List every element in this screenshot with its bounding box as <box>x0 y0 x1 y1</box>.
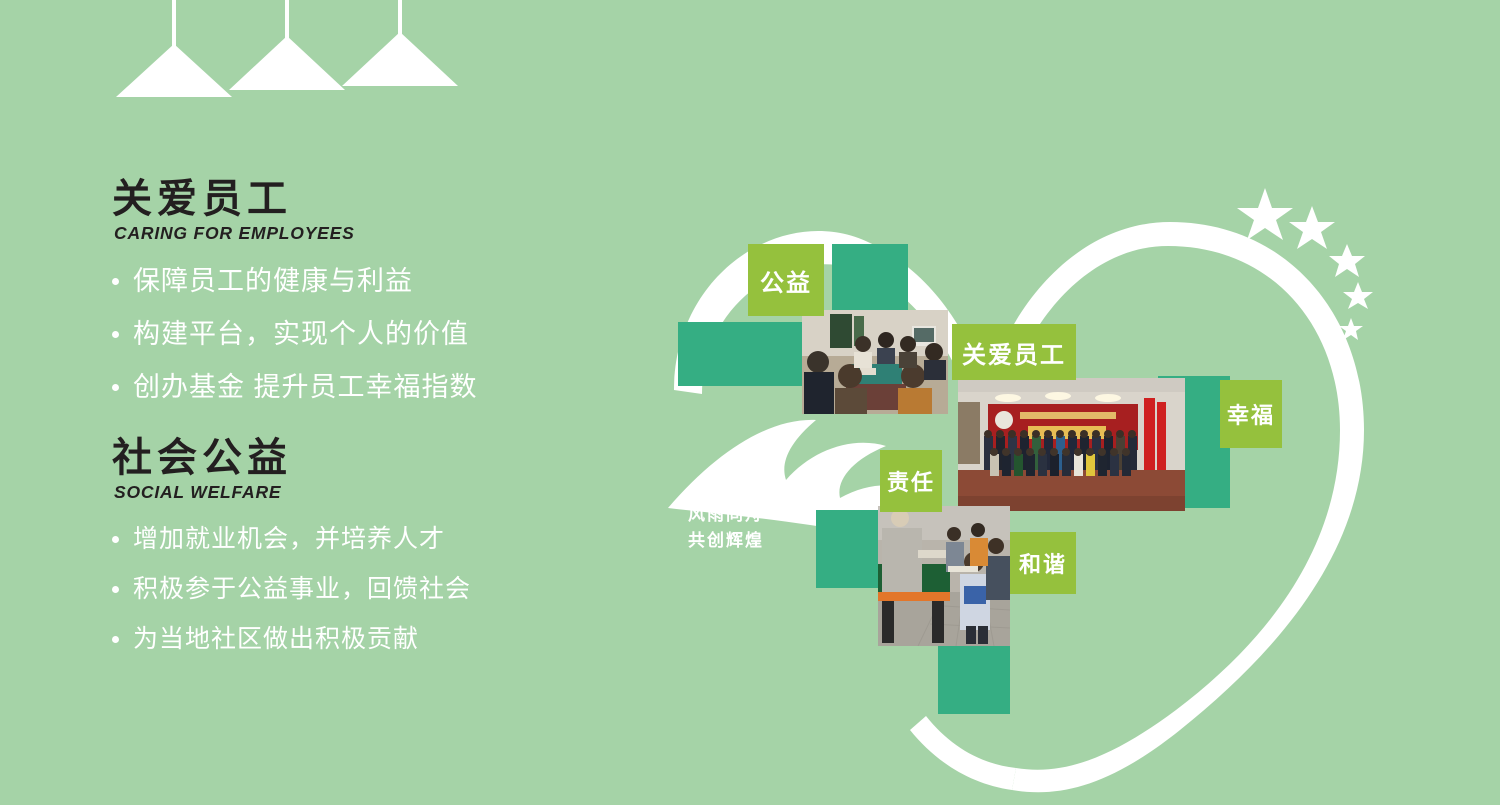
photo-collage: 公益 关爱员工 责任 幸福 和谐 风雨同舟 共创辉煌 <box>640 150 1500 805</box>
section-social-welfare: 社会公益 SOCIAL WELFARE 增加就业机会，并培养人才 积极参于公益事… <box>112 437 632 652</box>
poster-canvas: 关爱员工 CARING FOR EMPLOYEES 保障员工的健康与利益 构建平… <box>0 0 1500 805</box>
list-item: 构建平台，实现个人的价值 <box>112 321 632 348</box>
list-item: 创办基金 提升员工幸福指数 <box>112 374 632 401</box>
photo-donation <box>878 506 1010 646</box>
label-xingfu: 幸福 <box>1220 380 1282 448</box>
bullet-list-welfare: 增加就业机会，并培养人才 积极参于公益事业，回馈社会 为当地社区做出积极贡献 <box>112 527 632 652</box>
label-xingfu-text: 幸福 <box>1227 398 1275 430</box>
list-item: 积极参于公益事业，回馈社会 <box>112 577 632 602</box>
list-item: 保障员工的健康与利益 <box>112 268 632 295</box>
section-subtitle: CARING FOR EMPLOYEES <box>114 223 632 244</box>
label-guanaiyuangong: 关爱员工 <box>952 324 1076 380</box>
label-hexie: 和谐 <box>1010 532 1076 594</box>
photo-donation-image <box>878 506 1010 646</box>
page-title: 关爱员工 <box>112 178 632 221</box>
label-zeren-text: 责任 <box>887 465 935 497</box>
photo-group-stage-image <box>958 378 1185 511</box>
label-guanaiyuangong-text: 关爱员工 <box>962 335 1066 370</box>
list-item-label: 为当地社区做出积极贡献 <box>133 627 419 652</box>
photo-meeting <box>802 310 948 414</box>
label-gongyi-text: 公益 <box>760 263 812 298</box>
list-item: 增加就业机会，并培养人才 <box>112 527 632 552</box>
list-item-label: 积极参于公益事业，回馈社会 <box>133 577 471 602</box>
lamp-decoration-group <box>0 0 520 110</box>
bullet-dot-icon <box>112 536 119 543</box>
section-title: 社会公益 <box>112 437 632 480</box>
photo-meeting-image <box>802 310 948 414</box>
bullet-dot-icon <box>112 586 119 593</box>
label-hexie-text: 和谐 <box>1019 547 1067 579</box>
bullet-dot-icon <box>112 636 119 643</box>
section-caring-for-employees: 关爱员工 CARING FOR EMPLOYEES 保障员工的健康与利益 构建平… <box>112 178 632 401</box>
list-item-label: 保障员工的健康与利益 <box>133 268 413 295</box>
content-column: 关爱员工 CARING FOR EMPLOYEES 保障员工的健康与利益 构建平… <box>112 178 632 677</box>
motto-line-1: 风雨同舟 <box>688 502 764 528</box>
bullet-list-employees: 保障员工的健康与利益 构建平台，实现个人的价值 创办基金 提升员工幸福指数 <box>112 268 632 401</box>
label-zeren: 责任 <box>880 450 942 512</box>
tile-teal-2 <box>678 322 820 386</box>
list-item: 为当地社区做出积极贡献 <box>112 627 632 652</box>
motto-line-2: 共创辉煌 <box>688 528 764 554</box>
tile-teal-4 <box>938 644 1010 714</box>
label-gongyi: 公益 <box>748 244 824 316</box>
list-item-label: 构建平台，实现个人的价值 <box>133 321 469 348</box>
bullet-dot-icon <box>112 331 119 338</box>
motto-block: 风雨同舟 共创辉煌 <box>688 502 764 553</box>
pendant-lamp-icon <box>0 0 520 110</box>
section-subtitle: SOCIAL WELFARE <box>114 482 632 503</box>
bullet-dot-icon <box>112 384 119 391</box>
tile-teal-1 <box>832 244 908 316</box>
list-item-label: 增加就业机会，并培养人才 <box>133 527 445 552</box>
list-item-label: 创办基金 提升员工幸福指数 <box>133 374 478 401</box>
photo-group-stage <box>958 378 1185 511</box>
bullet-dot-icon <box>112 278 119 285</box>
